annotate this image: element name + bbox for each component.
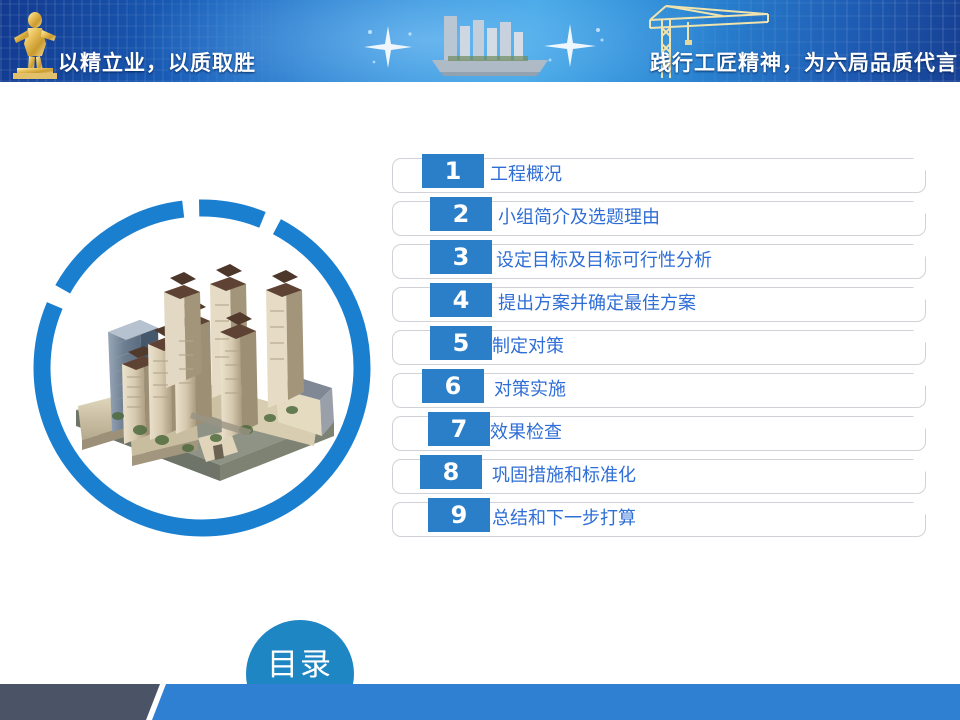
toc-number-badge: 3 <box>430 240 492 274</box>
ring-illustration: 目录 Contents <box>16 168 388 572</box>
toc-row[interactable]: 8巩固措施和标准化 <box>392 459 926 494</box>
toc-item-label: 巩固措施和标准化 <box>492 465 636 487</box>
sparkle-icon <box>358 22 422 70</box>
toc-item-label: 对策实施 <box>494 379 566 401</box>
toc-number-badge: 9 <box>428 498 490 532</box>
toc-item-label: 设定目标及目标可行性分析 <box>496 250 712 272</box>
toc-number-badge: 5 <box>430 326 492 360</box>
toc-row[interactable]: 4提出方案并确定最佳方案 <box>392 287 926 322</box>
table-of-contents: 1工程概况2小组简介及选题理由3设定目标及目标可行性分析4提出方案并确定最佳方案… <box>392 158 926 558</box>
slide-root: 以精立业，以质取胜 践行工匠精神，为六局品质代言 <box>0 0 960 720</box>
toc-item-label: 效果检查 <box>490 422 562 444</box>
toc-row[interactable]: 9总结和下一步打算 <box>392 502 926 537</box>
toc-item-label: 小组简介及选题理由 <box>498 207 660 229</box>
toc-number-badge: 6 <box>422 369 484 403</box>
toc-row[interactable]: 6对策实施 <box>392 373 926 408</box>
footer-blue-block <box>152 684 960 720</box>
header-banner: 以精立业，以质取胜 践行工匠精神，为六局品质代言 <box>0 0 960 82</box>
toc-item-label: 提出方案并确定最佳方案 <box>498 293 696 315</box>
toc-item-label: 总结和下一步打算 <box>492 508 636 530</box>
golden-craftsman-statue-icon <box>4 4 66 80</box>
toc-row[interactable]: 5制定对策 <box>392 330 926 365</box>
toc-number-badge: 2 <box>430 197 492 231</box>
skyline-buildings-icon <box>420 12 560 78</box>
residential-complex-3d-model <box>70 260 340 490</box>
toc-row[interactable]: 7效果检查 <box>392 416 926 451</box>
footer-bar <box>0 684 960 720</box>
toc-number-badge: 8 <box>420 455 482 489</box>
contents-title-cn: 目录 <box>267 650 333 681</box>
toc-number-badge: 1 <box>422 154 484 188</box>
header-slogan-left: 以精立业，以质取胜 <box>58 47 256 77</box>
toc-number-badge: 4 <box>430 283 492 317</box>
toc-row[interactable]: 2小组简介及选题理由 <box>392 201 926 236</box>
toc-number-badge: 7 <box>428 412 490 446</box>
toc-item-label: 工程概况 <box>490 164 562 186</box>
toc-row[interactable]: 3设定目标及目标可行性分析 <box>392 244 926 279</box>
toc-item-label: 制定对策 <box>492 336 564 358</box>
toc-row[interactable]: 1工程概况 <box>392 158 926 193</box>
header-slogan-right: 践行工匠精神，为六局品质代言 <box>650 47 958 77</box>
footer-dark-block <box>0 684 160 720</box>
